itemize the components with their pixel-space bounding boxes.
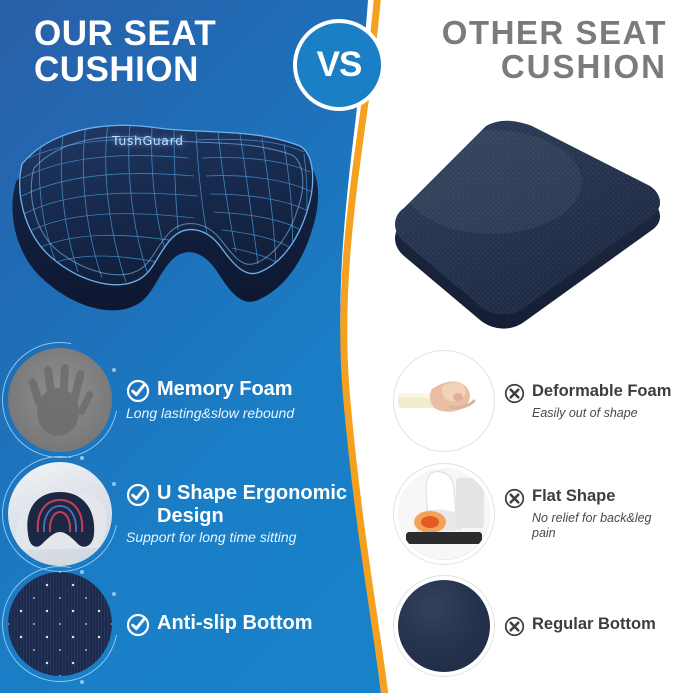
left-feature-row-1: Memory Foam Long lasting&slow rebound: [8, 348, 358, 452]
right-product-image: [382, 112, 672, 337]
right-feature-text-2: Flat Shape No relief for back&leg pain: [504, 487, 674, 541]
cross-circle-icon: [504, 488, 525, 509]
feature-title: U Shape Ergonomic Design: [157, 482, 358, 527]
right-feature-text-3: Regular Bottom: [504, 615, 656, 637]
right-feature-row-3: Regular Bottom: [398, 580, 674, 672]
ring-dot: [80, 680, 84, 684]
vs-label: VS: [317, 45, 362, 85]
feature-subtitle: Easily out of shape: [532, 406, 671, 421]
cross-circle-icon: [504, 616, 525, 637]
feature-title: Deformable Foam: [532, 382, 671, 400]
right-feature-text-1: Deformable Foam Easily out of shape: [504, 382, 671, 421]
left-header-line2: CUSHION: [34, 52, 304, 88]
ring-dot: [112, 368, 116, 372]
right-header-line1: OTHER SEAT: [377, 16, 667, 50]
feature-title: Memory Foam: [157, 378, 293, 400]
plain-navy-bottom-thumb-wrap: [398, 580, 490, 672]
infographic-canvas: OUR SEAT CUSHION OTHER SEAT CUSHION VS: [0, 0, 679, 693]
feature-title: Anti-slip Bottom: [157, 612, 313, 634]
left-feature-text-2: U Shape Ergonomic Design Support for lon…: [126, 482, 358, 546]
cross-circle-icon: [504, 383, 525, 404]
feature-title: Regular Bottom: [532, 615, 656, 633]
feature-title: Flat Shape: [532, 487, 615, 505]
brand-label: TushGuard: [112, 133, 184, 148]
decorative-ring: [393, 463, 495, 565]
left-header-line1: OUR SEAT: [34, 16, 304, 52]
ring-dot: [112, 592, 116, 596]
feature-subtitle: Long lasting&slow rebound: [126, 405, 294, 422]
anti-slip-dots-thumb-wrap: [8, 572, 112, 676]
check-circle-icon: [126, 379, 150, 403]
right-feature-row-2: Flat Shape No relief for back&leg pain: [398, 468, 674, 560]
feature-subtitle: Support for long time sitting: [126, 529, 358, 546]
vs-badge: VS: [297, 23, 381, 107]
back-pain-chair-thumb-wrap: [398, 468, 490, 560]
feature-subtitle: No relief for back&leg pain: [532, 511, 674, 541]
u-shape-cushion-thumb-wrap: [8, 462, 112, 566]
left-feature-text-3: Anti-slip Bottom: [126, 612, 313, 637]
right-header-title: OTHER SEAT CUSHION: [377, 16, 667, 85]
decorative-ring: [393, 575, 495, 677]
hand-squeezing-foam-thumb-wrap: [398, 355, 490, 447]
right-header-line2: CUSHION: [377, 50, 667, 84]
handprint-foam-thumb-wrap: [8, 348, 112, 452]
right-feature-row-1: Deformable Foam Easily out of shape: [398, 355, 674, 447]
check-circle-icon: [126, 483, 150, 507]
decorative-ring: [393, 350, 495, 452]
check-circle-icon: [126, 613, 150, 637]
left-feature-row-3: Anti-slip Bottom: [8, 572, 358, 676]
left-feature-text-1: Memory Foam Long lasting&slow rebound: [126, 378, 294, 422]
left-feature-row-2: U Shape Ergonomic Design Support for lon…: [8, 462, 358, 566]
left-header-title: OUR SEAT CUSHION: [34, 16, 304, 89]
ring-dot: [112, 482, 116, 486]
